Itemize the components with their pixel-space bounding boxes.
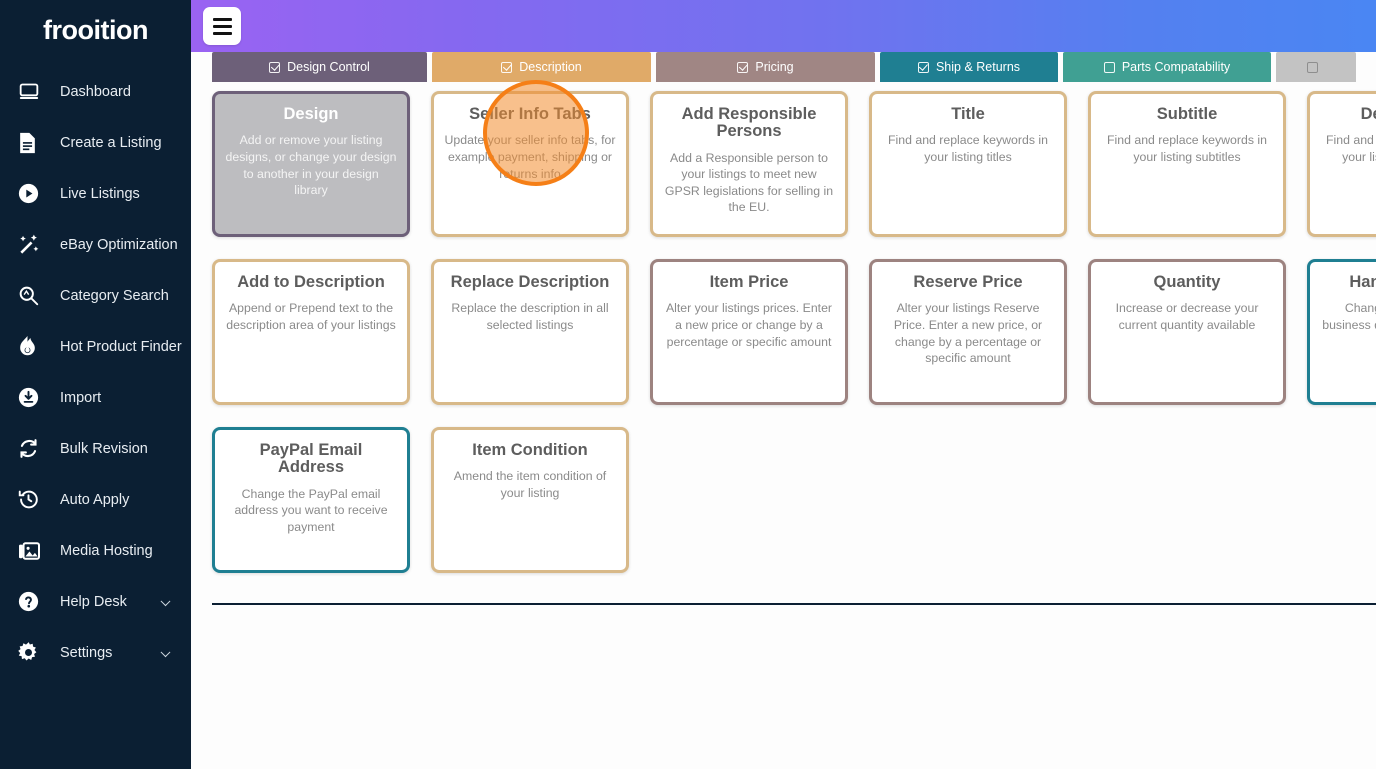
refresh-icon bbox=[18, 436, 48, 462]
card-title: Seller Info Tabs bbox=[469, 106, 591, 123]
sidebar-item-label: Category Search bbox=[60, 288, 169, 304]
option-card-design[interactable]: DesignAdd or remove your listing designs… bbox=[212, 91, 410, 237]
tab-label: Design Control bbox=[287, 60, 370, 74]
history-clock-icon bbox=[18, 487, 48, 513]
card-grid: DesignAdd or remove your listing designs… bbox=[212, 91, 1376, 573]
card-title: Add Responsible Persons bbox=[663, 106, 835, 141]
tab-label: Pricing bbox=[755, 60, 793, 74]
tab-checkbox-icon[interactable] bbox=[269, 62, 280, 73]
chevron-down-icon[interactable] bbox=[161, 596, 171, 606]
section-divider bbox=[212, 603, 1376, 605]
hamburger-bar bbox=[213, 18, 232, 21]
tab-label: Description bbox=[519, 60, 582, 74]
sidebar-item-settings[interactable]: Settings bbox=[0, 627, 191, 678]
option-card-item-condition[interactable]: Item ConditionAmend the item condition o… bbox=[431, 427, 629, 573]
card-title: Replace Description bbox=[451, 274, 610, 291]
tab-pricing[interactable]: Pricing bbox=[656, 52, 875, 82]
sidebar-item-bulk-revision[interactable]: Bulk Revision bbox=[0, 423, 191, 474]
sidebar-item-label: Live Listings bbox=[60, 186, 140, 202]
card-title: Reserve Price bbox=[913, 274, 1022, 291]
sidebar-item-category-search[interactable]: Category Search bbox=[0, 270, 191, 321]
card-title: Quantity bbox=[1154, 274, 1221, 291]
option-card-add-to-description[interactable]: Add to DescriptionAppend or Prepend text… bbox=[212, 259, 410, 405]
card-description: Find and replace keywords in your listin… bbox=[882, 132, 1054, 165]
card-title: Handling Time bbox=[1349, 274, 1376, 291]
brand-name: frooition bbox=[43, 15, 148, 46]
main-content: Design ControlDescriptionPricingShip & R… bbox=[191, 0, 1376, 769]
card-description: Alter your listings Reserve Price. Enter… bbox=[882, 300, 1054, 366]
card-title: Design bbox=[283, 106, 338, 123]
brand-logo[interactable]: frooition bbox=[0, 0, 191, 52]
sidebar-item-label: Hot Product Finder bbox=[60, 339, 182, 355]
sidebar: frooition DashboardCreate a ListingLive … bbox=[0, 0, 191, 769]
sidebar-item-help-desk[interactable]: Help Desk bbox=[0, 576, 191, 627]
document-icon bbox=[18, 130, 48, 156]
sidebar-item-import[interactable]: Import bbox=[0, 372, 191, 423]
tab-ship-returns[interactable]: Ship & Returns bbox=[880, 52, 1058, 82]
flame-icon bbox=[18, 334, 48, 360]
tab-description[interactable]: Description bbox=[432, 52, 651, 82]
chevron-down-icon[interactable] bbox=[161, 647, 171, 657]
app-root: frooition DashboardCreate a ListingLive … bbox=[0, 0, 1376, 769]
card-description: Find and replace keywords in your listin… bbox=[1320, 132, 1376, 165]
card-title: Description bbox=[1361, 106, 1376, 123]
card-description: Alter your listings prices. Enter a new … bbox=[663, 300, 835, 350]
tab-design-control[interactable]: Design Control bbox=[212, 52, 427, 82]
option-card-replace-description[interactable]: Replace DescriptionReplace the descripti… bbox=[431, 259, 629, 405]
card-title: Add to Description bbox=[237, 274, 385, 291]
card-description: Update your seller info tabs, for exampl… bbox=[444, 132, 616, 182]
sidebar-item-label: Help Desk bbox=[60, 594, 127, 610]
tab-parts-compatability[interactable]: Parts Compatability bbox=[1063, 52, 1271, 82]
tab-checkbox-icon[interactable] bbox=[1307, 62, 1318, 73]
card-title: Subtitle bbox=[1157, 106, 1218, 123]
card-description: Change the number of business days you t… bbox=[1320, 300, 1376, 333]
tab-checkbox-icon[interactable] bbox=[501, 62, 512, 73]
card-description: Add a Responsible person to your listing… bbox=[663, 150, 835, 216]
tab-checkbox-icon[interactable] bbox=[1104, 62, 1115, 73]
sidebar-item-label: Auto Apply bbox=[60, 492, 129, 508]
card-title: Title bbox=[951, 106, 985, 123]
card-description: Amend the item condition of your listing bbox=[444, 468, 616, 501]
sidebar-item-create-a-listing[interactable]: Create a Listing bbox=[0, 117, 191, 168]
card-description: Append or Prepend text to the descriptio… bbox=[225, 300, 397, 333]
card-title: Item Condition bbox=[472, 442, 587, 459]
sidebar-item-label: eBay Optimization bbox=[60, 237, 178, 253]
tab-checkbox-icon[interactable] bbox=[737, 62, 748, 73]
option-card-paypal-email-address[interactable]: PayPal Email AddressChange the PayPal em… bbox=[212, 427, 410, 573]
download-circle-icon bbox=[18, 385, 48, 411]
gear-icon bbox=[18, 640, 48, 666]
sidebar-item-media-hosting[interactable]: Media Hosting bbox=[0, 525, 191, 576]
card-description: Add or remove your listing designs, or c… bbox=[225, 132, 397, 198]
option-card-title[interactable]: TitleFind and replace keywords in your l… bbox=[869, 91, 1067, 237]
monitor-icon bbox=[18, 79, 48, 105]
sidebar-item-dashboard[interactable]: Dashboard bbox=[0, 66, 191, 117]
sidebar-item-label: Bulk Revision bbox=[60, 441, 148, 457]
sidebar-item-label: Settings bbox=[60, 645, 112, 661]
tab-more[interactable] bbox=[1276, 52, 1356, 82]
top-header-bar bbox=[191, 0, 1376, 52]
sidebar-item-ebay-optimization[interactable]: eBay Optimization bbox=[0, 219, 191, 270]
hamburger-bar bbox=[213, 25, 232, 28]
option-card-handling-time[interactable]: Handling TimeChange the number of busine… bbox=[1307, 259, 1376, 405]
card-title: Item Price bbox=[710, 274, 789, 291]
question-circle-icon bbox=[18, 589, 48, 615]
card-title: PayPal Email Address bbox=[225, 442, 397, 477]
hamburger-icon[interactable] bbox=[203, 7, 241, 45]
sidebar-item-label: Import bbox=[60, 390, 101, 406]
images-icon bbox=[18, 538, 48, 564]
magic-wand-icon bbox=[18, 232, 48, 258]
option-card-description[interactable]: DescriptionFind and replace keywords in … bbox=[1307, 91, 1376, 237]
option-card-add-responsible-persons[interactable]: Add Responsible PersonsAdd a Responsible… bbox=[650, 91, 848, 237]
sidebar-item-label: Dashboard bbox=[60, 84, 131, 100]
card-description: Increase or decrease your current quanti… bbox=[1101, 300, 1273, 333]
sidebar-item-label: Media Hosting bbox=[60, 543, 153, 559]
tab-label: Ship & Returns bbox=[936, 60, 1020, 74]
sidebar-item-hot-product-finder[interactable]: Hot Product Finder bbox=[0, 321, 191, 372]
magnifier-icon bbox=[18, 283, 48, 309]
play-circle-icon bbox=[18, 181, 48, 207]
option-card-subtitle[interactable]: SubtitleFind and replace keywords in you… bbox=[1088, 91, 1286, 237]
sidebar-item-live-listings[interactable]: Live Listings bbox=[0, 168, 191, 219]
card-description: Find and replace keywords in your listin… bbox=[1101, 132, 1273, 165]
category-tabstrip: Design ControlDescriptionPricingShip & R… bbox=[191, 52, 1376, 82]
option-card-item-price[interactable]: Item PriceAlter your listings prices. En… bbox=[650, 259, 848, 405]
sidebar-item-auto-apply[interactable]: Auto Apply bbox=[0, 474, 191, 525]
hamburger-bar bbox=[213, 32, 232, 35]
option-card-reserve-price[interactable]: Reserve PriceAlter your listings Reserve… bbox=[869, 259, 1067, 405]
bulk-revision-options: DesignAdd or remove your listing designs… bbox=[191, 82, 1376, 573]
tab-checkbox-icon[interactable] bbox=[918, 62, 929, 73]
sidebar-nav: DashboardCreate a ListingLive ListingseB… bbox=[0, 66, 191, 678]
tab-label: Parts Compatability bbox=[1122, 60, 1230, 74]
sidebar-item-label: Create a Listing bbox=[60, 135, 162, 151]
option-card-seller-info-tabs[interactable]: Seller Info TabsUpdate your seller info … bbox=[431, 91, 629, 237]
option-card-quantity[interactable]: QuantityIncrease or decrease your curren… bbox=[1088, 259, 1286, 405]
card-description: Replace the description in all selected … bbox=[444, 300, 616, 333]
card-description: Change the PayPal email address you want… bbox=[225, 486, 397, 536]
